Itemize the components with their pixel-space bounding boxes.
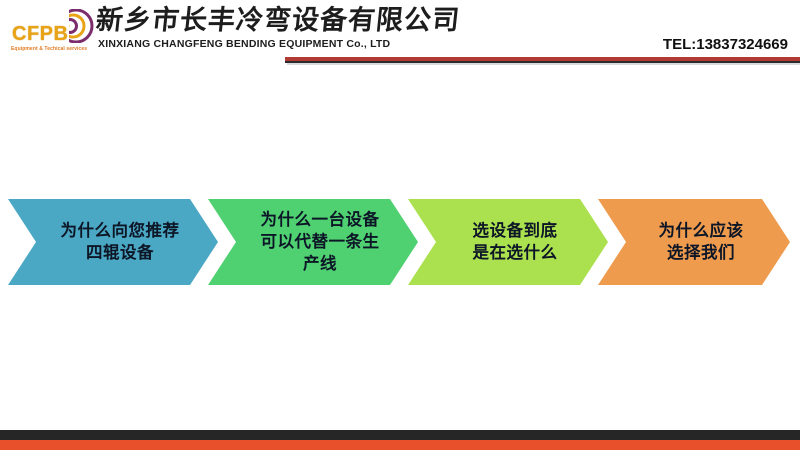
chevron-step-3[interactable]: 选设备到底 是在选什么 <box>408 199 608 285</box>
chevron-step-1[interactable]: 为什么向您推荐 四辊设备 <box>8 199 218 285</box>
logo-wordmark: CFPB <box>12 24 68 44</box>
footer-dark-bar <box>0 430 800 440</box>
company-name-chinese: 新乡市长丰冷弯设备有限公司 <box>94 6 461 36</box>
chevron-step-2[interactable]: 为什么一台设备 可以代替一条生 产线 <box>208 199 418 285</box>
logo-tagline: Equipment & Techical services <box>11 46 87 52</box>
chevron-step-4-label: 为什么应该 选择我们 <box>633 220 756 264</box>
company-logo: CFPB Equipment & Techical services <box>8 8 100 56</box>
chevron-step-3-label: 选设备到底 是在选什么 <box>447 220 570 264</box>
company-name-english: XINXIANG CHANGFENG BENDING EQUIPMENT Co.… <box>98 38 390 50</box>
telephone-number: TEL:13837324669 <box>663 36 788 53</box>
chevron-step-2-label: 为什么一台设备 可以代替一条生 产线 <box>235 209 392 274</box>
page-header: CFPB Equipment & Techical services 新乡市长丰… <box>0 0 800 72</box>
chevron-process-row: 为什么向您推荐 四辊设备 为什么一台设备 可以代替一条生 产线 选设备到底 是在… <box>0 199 800 285</box>
footer-accent-bar <box>0 440 800 450</box>
chevron-step-4[interactable]: 为什么应该 选择我们 <box>598 199 790 285</box>
header-divider-shadow <box>287 63 800 65</box>
chevron-step-1-label: 为什么向您推荐 四辊设备 <box>35 220 192 264</box>
